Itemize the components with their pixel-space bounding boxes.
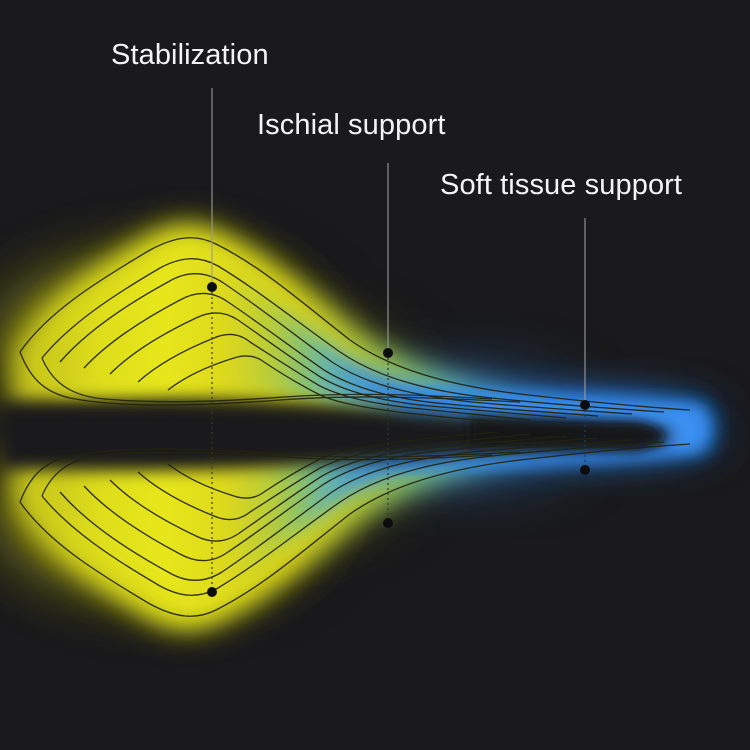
pressure-map-canvas: Stabilization Ischial support Soft tissu… bbox=[0, 0, 750, 750]
annotation-label-ischial-support: Ischial support bbox=[257, 110, 446, 140]
annotation-label-stabilization: Stabilization bbox=[111, 40, 269, 70]
annotation-label-soft-tissue-support: Soft tissue support bbox=[440, 170, 682, 200]
